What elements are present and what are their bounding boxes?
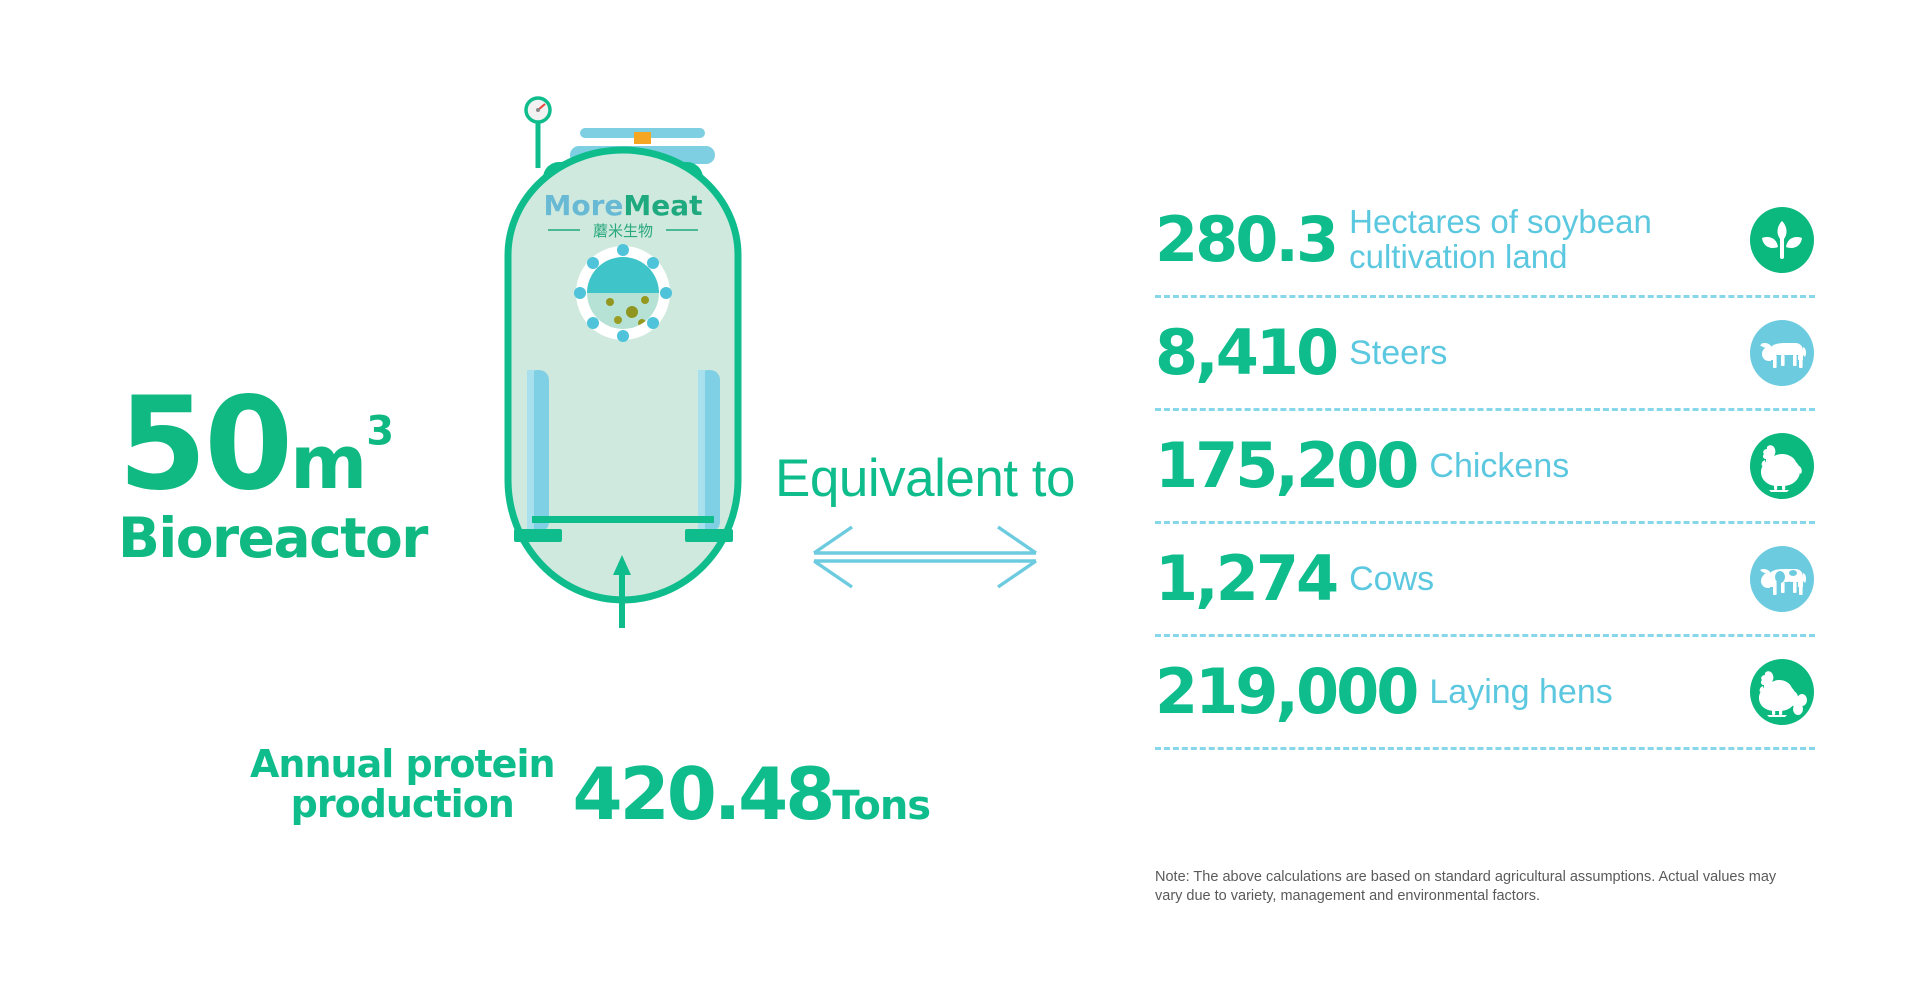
- annual-production-block: Annual protein production 420.48Tons: [250, 745, 970, 830]
- annual-production-value-group: 420.48Tons: [573, 758, 931, 830]
- equivalent-value: 8,410: [1155, 322, 1336, 384]
- annual-production-value: 420.48: [573, 752, 833, 836]
- equivalent-label: Hectares of soybean cultivation land: [1349, 205, 1679, 275]
- equivalent-value: 219,000: [1155, 661, 1416, 723]
- arrowhead-left-bottom: [814, 561, 852, 587]
- footnote: Note: The above calculations are based o…: [1155, 868, 1800, 906]
- annual-production-label: Annual protein production: [250, 745, 555, 830]
- equivalent-label: Laying hens: [1429, 674, 1612, 710]
- foot-right: [685, 529, 733, 542]
- annual-production-unit: Tons: [832, 783, 930, 829]
- equivalent-value: 175,200: [1155, 435, 1416, 497]
- culture-particle: [606, 298, 614, 306]
- arrowhead-left-top: [814, 527, 852, 553]
- foot-left: [514, 529, 562, 542]
- culture-particle: [614, 316, 622, 324]
- arrowhead-right-bottom: [998, 561, 1036, 587]
- leg-highlight-left: [527, 370, 534, 532]
- laying-hen-icon: [1749, 659, 1815, 725]
- gauge-hub: [536, 108, 540, 112]
- list-item[interactable]: 280.3 Hectares of soybean cultivation la…: [1155, 185, 1815, 295]
- double-headed-arrow-icon: [800, 521, 1050, 591]
- equivalent-label: Cows: [1349, 561, 1434, 597]
- steer-icon: [1749, 320, 1815, 386]
- culture-particle: [626, 306, 638, 318]
- equivalent-value: 1,274: [1155, 548, 1336, 610]
- logo-meat: Meat: [623, 189, 702, 222]
- arrowhead-right-top: [998, 527, 1036, 553]
- list-separator: [1155, 747, 1815, 750]
- equivalent-value: 280.3: [1155, 209, 1336, 271]
- culture-particle: [641, 296, 649, 304]
- bioreactor-volume-block: 50m3 Bioreactor: [118, 386, 448, 570]
- dairy-cow-icon: [1749, 546, 1815, 612]
- volume-unit: m: [290, 420, 366, 506]
- bioreactor-label: Bioreactor: [118, 506, 448, 570]
- leg-highlight-right: [698, 370, 705, 532]
- list-item[interactable]: 219,000 Laying hens: [1155, 637, 1815, 747]
- annual-label-line1: Annual protein: [250, 745, 555, 785]
- annual-label-line2: production: [250, 785, 555, 825]
- list-item[interactable]: 175,200 Chickens: [1155, 411, 1815, 521]
- chicken-icon: [1749, 433, 1815, 499]
- infographic-canvas: 50m3 Bioreactor MoreMeat: [0, 0, 1920, 1000]
- volume-number: 50: [118, 370, 290, 519]
- leg-crossbar: [532, 516, 714, 523]
- equivalent-to-block: Equivalent to: [760, 448, 1090, 596]
- volume-exponent: 3: [366, 408, 394, 454]
- valve-knob: [634, 132, 651, 144]
- list-item[interactable]: 1,274 Cows: [1155, 524, 1815, 634]
- bioreactor-svg: MoreMeat 蘑米生物: [470, 80, 770, 680]
- equivalent-to-label: Equivalent to: [760, 448, 1090, 509]
- equivalent-label: Steers: [1349, 335, 1447, 371]
- logo-more: More: [543, 189, 623, 222]
- equivalents-list: 280.3 Hectares of soybean cultivation la…: [1155, 185, 1815, 750]
- equivalent-label: Chickens: [1429, 448, 1569, 484]
- bioreactor-illustration: MoreMeat 蘑米生物: [470, 80, 770, 680]
- sprout-icon: [1749, 207, 1815, 273]
- logo-subtitle: 蘑米生物: [593, 222, 653, 240]
- volume-headline: 50m3: [118, 386, 448, 504]
- vessel-logo: MoreMeat: [543, 189, 702, 222]
- sight-glass-contents: [587, 257, 659, 329]
- list-item[interactable]: 8,410 Steers: [1155, 298, 1815, 408]
